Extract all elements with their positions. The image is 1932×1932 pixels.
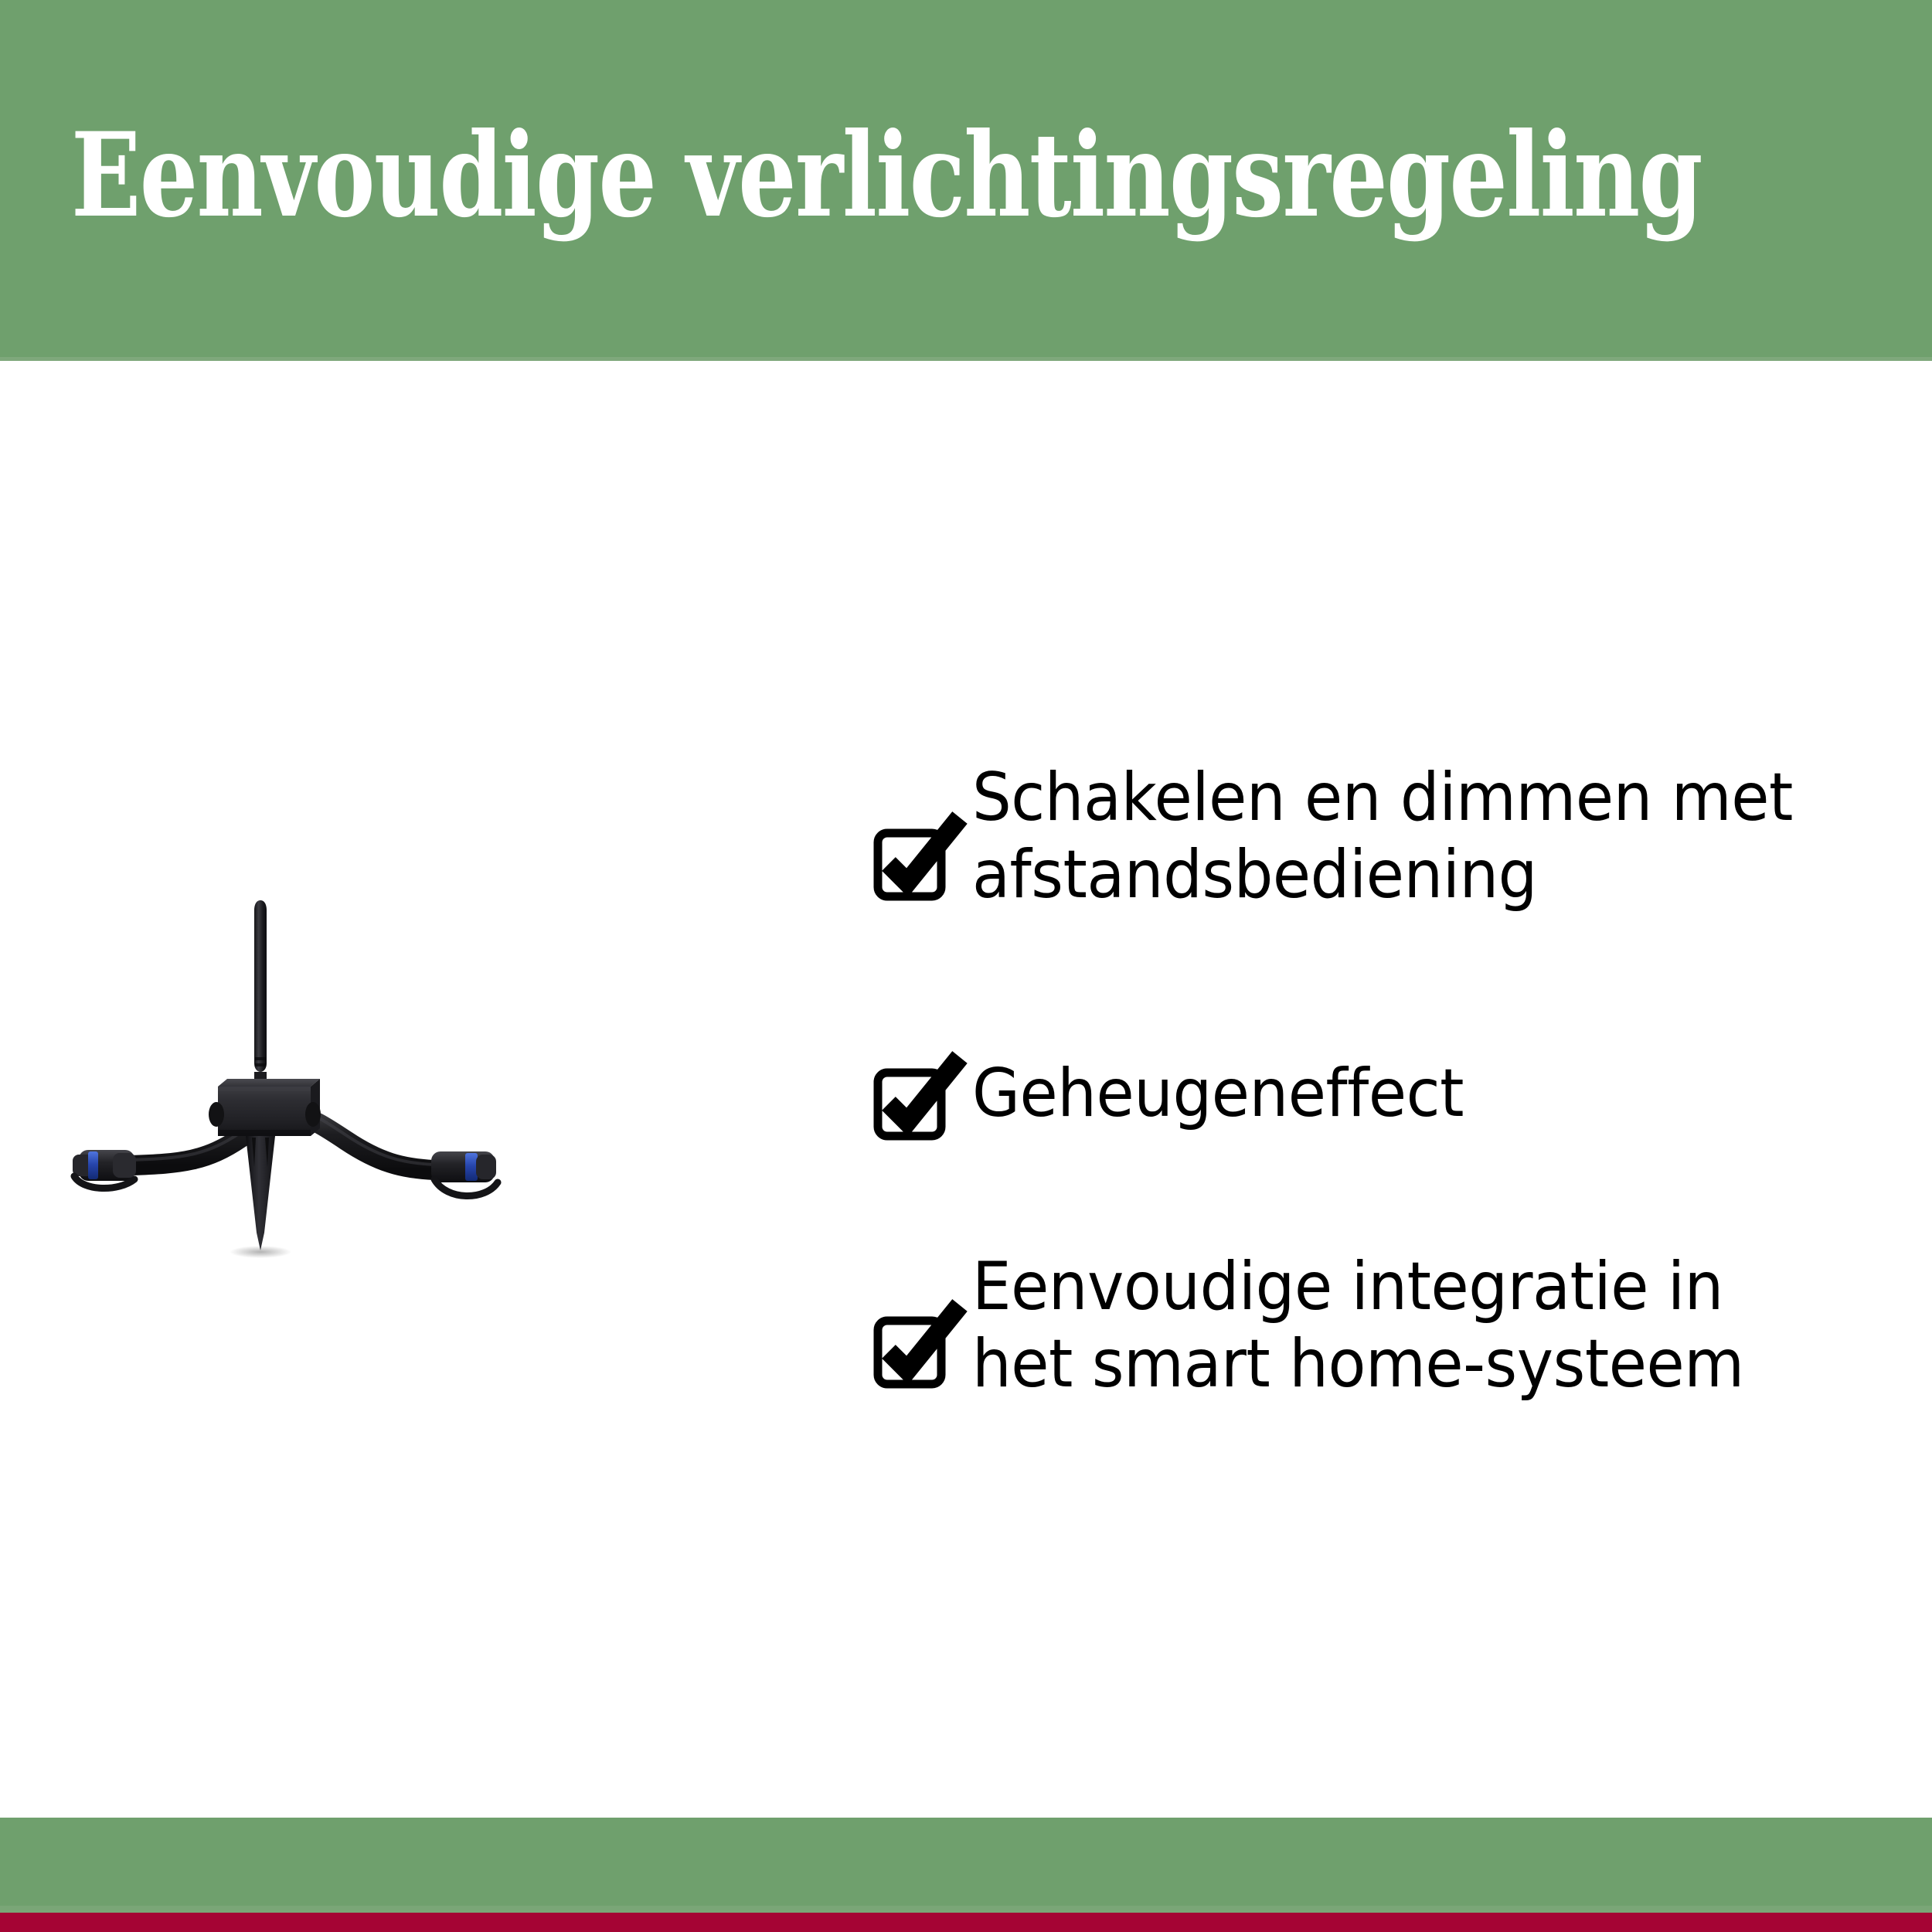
feature-label: Geheugeneffect	[972, 1055, 1820, 1132]
connector-ring-left	[88, 1151, 98, 1179]
list-item: Geheugeneffect	[873, 997, 1893, 1264]
list-item: Eenvoudige integratie in het smart home-…	[873, 1264, 1893, 1464]
feature-label: Eenvoudige integratie in het smart home-…	[972, 1248, 1820, 1403]
ground-spike-icon	[246, 1136, 275, 1250]
list-item: Schakelen en dimmen met afstandsbedienin…	[873, 742, 1893, 997]
page-title: Eenvoudige verlichtingsregeling	[71, 117, 1475, 233]
connector-ring-right	[465, 1153, 478, 1181]
product-image	[39, 889, 920, 1306]
spike-shadow	[230, 1246, 291, 1258]
feature-label: Schakelen en dimmen met afstandsbedienin…	[972, 759, 1820, 913]
product-illustration	[39, 889, 920, 1306]
checkbox-checked-icon	[873, 805, 970, 902]
footer-green-band	[0, 1818, 1932, 1913]
connector-left	[73, 1150, 136, 1189]
antenna-icon	[254, 900, 267, 1096]
checkbox-checked-icon	[873, 1045, 970, 1141]
footer-accent-band	[0, 1913, 1932, 1932]
feature-list: Schakelen en dimmen met afstandsbedienin…	[873, 742, 1893, 1464]
checkbox-checked-icon	[873, 1293, 970, 1389]
connector-right	[431, 1151, 498, 1196]
footer-green-band-edge	[0, 1906, 1932, 1913]
controller-housing	[209, 1079, 321, 1136]
poster-canvas: Eenvoudige verlichtingsregeling	[0, 0, 1932, 1932]
header-band-edge	[0, 357, 1932, 361]
